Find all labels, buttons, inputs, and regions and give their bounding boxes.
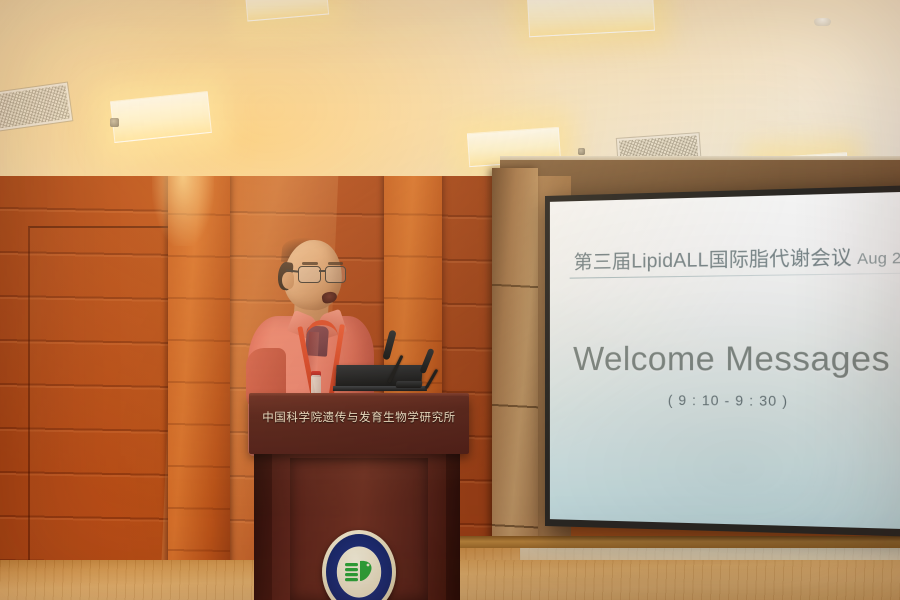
emblem-wheat-symbol: [343, 557, 375, 587]
corner-column: [492, 168, 538, 568]
slide-header-en: Aug 26 Day: [857, 249, 900, 269]
podium-left-face: [254, 452, 274, 600]
podium-body: [272, 452, 446, 600]
sprinkler-head: [578, 148, 585, 155]
conference-hall-photo: 第三届LipidALL国际脂代谢会议 Aug 26 Day Welcome Me…: [0, 0, 900, 600]
smoke-detector: [814, 18, 831, 26]
slide-heading: Welcome Messages: [550, 339, 900, 379]
speaker-ear: [282, 272, 294, 289]
wall-door-outline: [28, 226, 170, 576]
slide-header-cn: 第三届LipidALL国际脂代谢会议: [574, 247, 852, 273]
projection-screen: 第三届LipidALL国际脂代谢会议 Aug 26 Day Welcome Me…: [545, 185, 900, 537]
wall-spotlight-highlight: [152, 176, 214, 246]
ceiling-light-panel: [527, 0, 655, 37]
speaker-eyebrow: [302, 262, 318, 265]
speaker-eyebrow: [328, 262, 343, 265]
sprinkler-head: [110, 118, 119, 127]
podium-top-banner: 中国科学院遗传与发育生物学研究所: [249, 396, 469, 454]
slide-time-range: ( 9 : 10 - 9 : 30 ): [550, 392, 900, 410]
eyeglasses-icon: [298, 266, 352, 284]
baseboard: [430, 536, 900, 548]
projection-surface: 第三届LipidALL国际脂代谢会议 Aug 26 Day Welcome Me…: [550, 192, 900, 530]
podium-banner-text: 中国科学院遗传与发育生物学研究所: [249, 409, 469, 425]
podium-right-face: [444, 452, 460, 600]
microphone-base: [396, 381, 423, 388]
speaker-mouth: [321, 291, 338, 304]
